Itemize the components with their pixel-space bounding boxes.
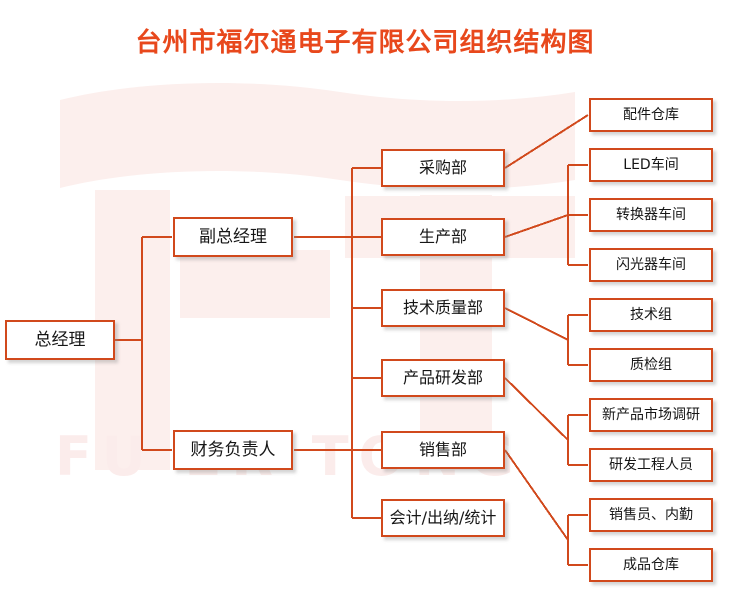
page-title: 台州市福尔通电子有限公司组织结构图 <box>0 22 730 59</box>
node-label: 财务负责人 <box>191 442 276 459</box>
node-label: 新产品市场调研 <box>602 408 700 422</box>
node-label: 销售部 <box>419 442 467 458</box>
node-rnd-engineers[interactable]: 研发工程人员 <box>589 448 713 482</box>
node-technical-quality-dept[interactable]: 技术质量部 <box>381 289 505 327</box>
node-label: 技术质量部 <box>403 300 483 316</box>
node-label: 采购部 <box>419 160 467 176</box>
node-deputy-general-manager[interactable]: 副总经理 <box>173 217 293 257</box>
node-purchasing-dept[interactable]: 采购部 <box>381 149 505 187</box>
node-label: 副总经理 <box>199 229 267 246</box>
node-label: 闪光器车间 <box>616 258 686 272</box>
node-label: 销售员、内勤 <box>609 508 693 522</box>
node-label: 配件仓库 <box>623 108 679 122</box>
node-label: 会计/出纳/统计 <box>390 510 497 526</box>
node-label: 生产部 <box>419 229 467 245</box>
node-parts-warehouse[interactable]: 配件仓库 <box>589 98 713 132</box>
node-sales-dept[interactable]: 销售部 <box>381 431 505 469</box>
node-salesperson-inside[interactable]: 销售员、内勤 <box>589 498 713 532</box>
node-product-rnd-dept[interactable]: 产品研发部 <box>381 359 505 397</box>
node-led-workshop[interactable]: LED车间 <box>589 148 713 182</box>
node-flash-workshop[interactable]: 闪光器车间 <box>589 248 713 282</box>
link-rnd-trunk <box>505 378 568 440</box>
node-finance-officer[interactable]: 财务负责人 <box>173 430 293 470</box>
link-techquality-trunk <box>505 308 568 340</box>
node-label: 质检组 <box>630 358 672 372</box>
node-label: 产品研发部 <box>403 370 483 386</box>
node-production-dept[interactable]: 生产部 <box>381 218 505 256</box>
node-accounting-cashier-statistics[interactable]: 会计/出纳/统计 <box>381 499 505 537</box>
node-label: 转换器车间 <box>616 208 686 222</box>
link-production-trunk <box>505 215 568 237</box>
node-finished-warehouse[interactable]: 成品仓库 <box>589 548 713 582</box>
link-sales-trunk <box>505 450 568 540</box>
node-label: 总经理 <box>35 332 86 349</box>
node-general-manager[interactable]: 总经理 <box>5 320 115 360</box>
node-label: 技术组 <box>630 308 672 322</box>
node-market-research[interactable]: 新产品市场调研 <box>589 398 713 432</box>
node-converter-workshop[interactable]: 转换器车间 <box>589 198 713 232</box>
node-qc-group[interactable]: 质检组 <box>589 348 713 382</box>
node-tech-group[interactable]: 技术组 <box>589 298 713 332</box>
node-label: 研发工程人员 <box>609 458 693 472</box>
link-purchasing-parts-warehouse <box>505 115 588 168</box>
node-label: LED车间 <box>623 158 678 172</box>
node-label: 成品仓库 <box>623 558 679 572</box>
org-chart-canvas: FU ER TONG 台州市福尔通电子有限公司组织结构图 <box>0 0 730 610</box>
